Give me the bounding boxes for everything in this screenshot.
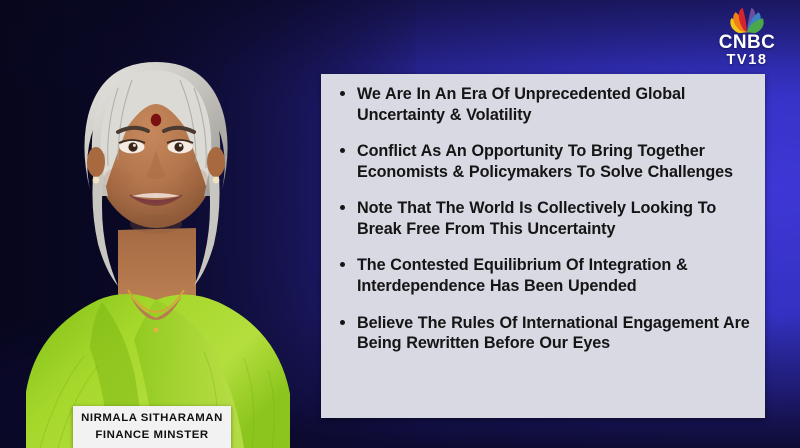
speaker-designation: FINANCE MINSTER [95,427,208,444]
bullet-text: Conflict As An Opportunity To Bring Toge… [357,142,733,181]
bullet-dot-icon [340,320,345,325]
bullet-text: Believe The Rules Of International Engag… [357,314,750,353]
portrait-illustration [6,0,306,448]
bullet-text: Note That The World Is Collectively Look… [357,199,716,238]
bullet-dot-icon [340,91,345,96]
list-item: Note That The World Is Collectively Look… [337,198,751,239]
list-item: The Contested Equilibrium Of Integration… [337,255,751,296]
nbc-peacock-icon [721,6,773,33]
bullet-dot-icon [340,205,345,210]
speaker-name-caption: NIRMALA SITHARAMAN FINANCE MINSTER [73,406,231,448]
logo-primary-text: CNBC [719,34,776,53]
speaker-name: NIRMALA SITHARAMAN [81,410,223,427]
bullet-dot-icon [340,262,345,267]
bullet-text: The Contested Equilibrium Of Integration… [357,256,688,295]
quote-bullet-list: We Are In An Era Of Unprecedented Global… [337,84,751,354]
logo-secondary-text: TV18 [726,53,767,68]
list-item: We Are In An Era Of Unprecedented Global… [337,84,751,125]
bullet-text: We Are In An Era Of Unprecedented Global… [357,85,685,124]
logo-text-wrap: CNBC TV18 [719,34,776,68]
channel-logo: CNBC TV18 [708,6,786,68]
broadcast-screen: We Are In An Era Of Unprecedented Global… [0,0,800,448]
speaker-portrait [6,0,306,448]
list-item: Believe The Rules Of International Engag… [337,313,751,354]
bullet-dot-icon [340,148,345,153]
quote-panel: We Are In An Era Of Unprecedented Global… [321,74,765,418]
list-item: Conflict As An Opportunity To Bring Toge… [337,141,751,182]
